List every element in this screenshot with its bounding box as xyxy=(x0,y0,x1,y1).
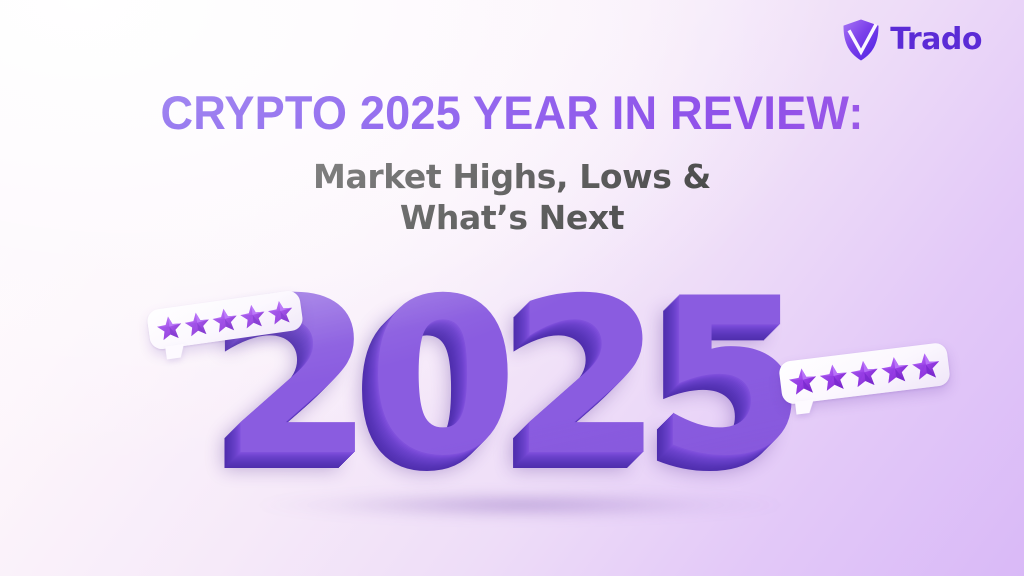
star-icon xyxy=(238,301,267,330)
star-icon xyxy=(787,365,819,397)
speech-bubble-tail xyxy=(795,399,815,414)
shield-check-icon xyxy=(841,18,881,62)
page-subtitle: Market Highs, Lows & What’s Next xyxy=(0,157,1024,239)
star-icon xyxy=(155,313,184,342)
brand-logo[interactable]: Trado xyxy=(841,18,982,62)
star-icon xyxy=(910,350,942,382)
page-subtitle-line-1: Market Highs, Lows & xyxy=(0,157,1024,198)
star-icon xyxy=(266,298,295,327)
star-icon xyxy=(818,361,850,393)
star-icon xyxy=(848,357,880,389)
brand-name: Trado xyxy=(890,25,982,55)
banner-graphic: Trado CRYPTO 2025 YEAR IN REVIEW: Market… xyxy=(0,0,1024,576)
page-subtitle-line-2: What’s Next xyxy=(0,198,1024,239)
star-icon xyxy=(183,309,212,338)
speech-bubble-tail xyxy=(165,344,186,360)
star-icon xyxy=(879,354,911,386)
star-icon xyxy=(210,305,239,334)
page-title: CRYPTO 2025 YEAR IN REVIEW: xyxy=(20,88,1003,137)
headline-block: CRYPTO 2025 YEAR IN REVIEW: Market Highs… xyxy=(0,88,1024,239)
